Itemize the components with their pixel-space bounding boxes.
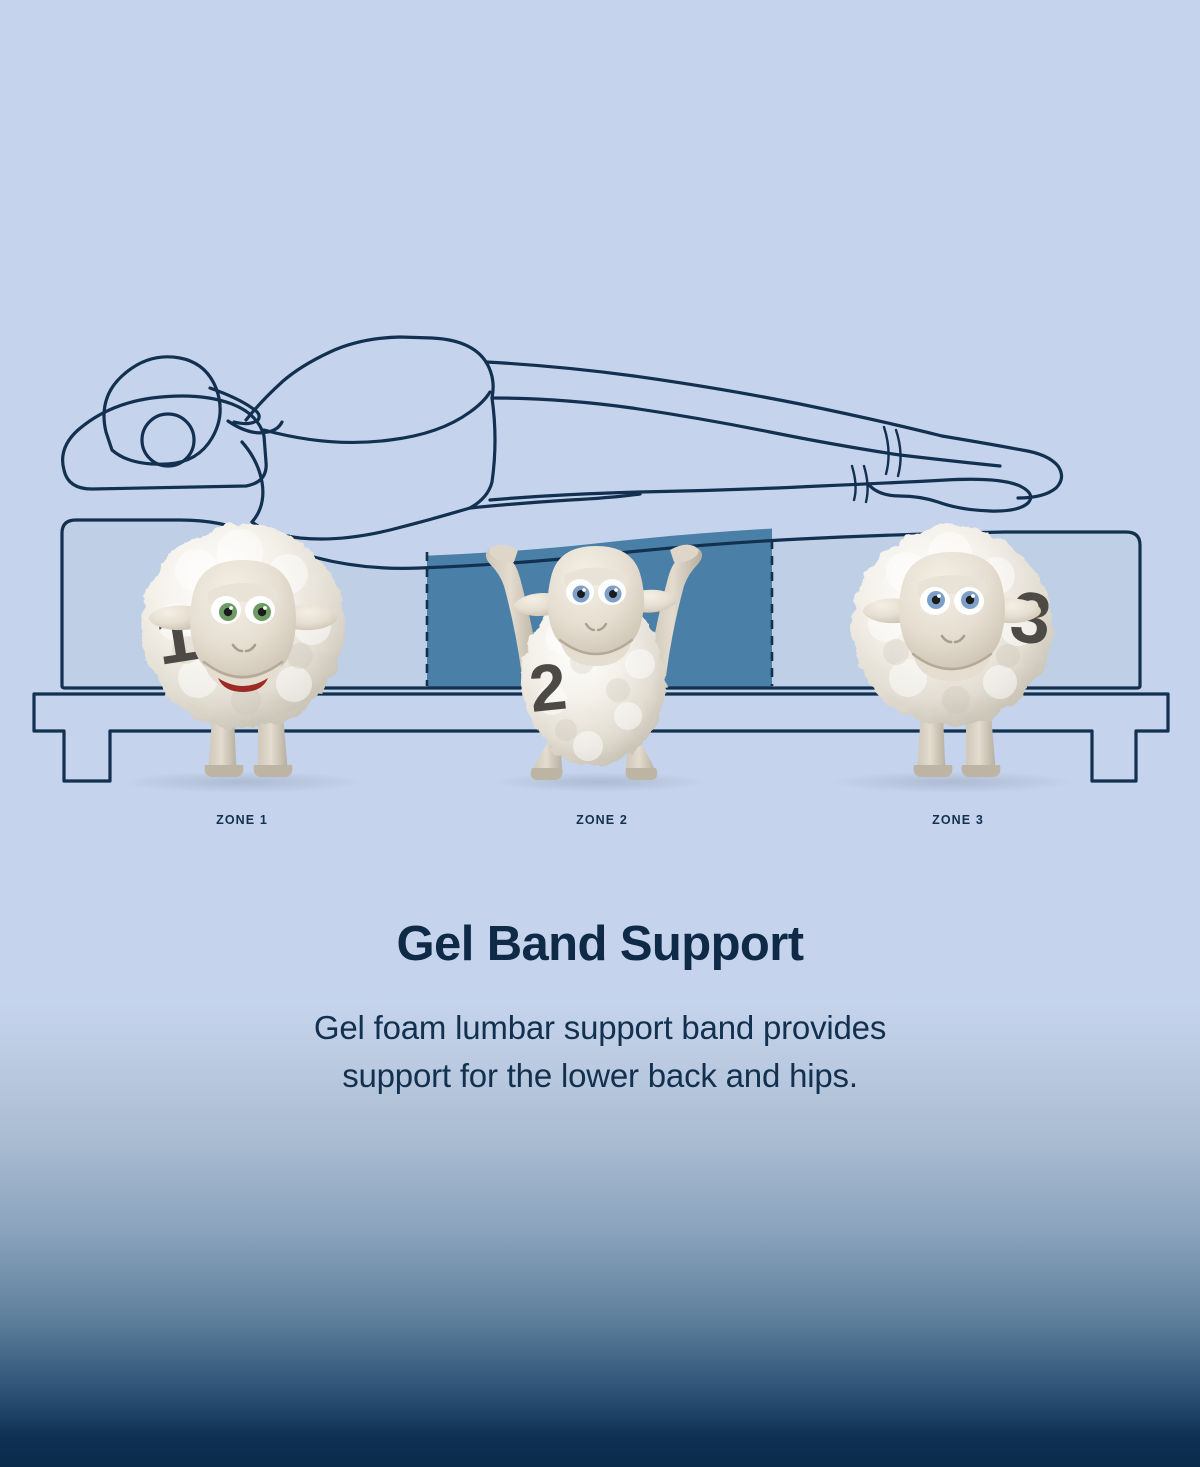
zone-label-2: ZONE 2 bbox=[502, 813, 702, 827]
page-title: Gel Band Support bbox=[0, 915, 1200, 973]
description-line-1: Gel foam lumbar support band provides bbox=[314, 1009, 886, 1046]
zone-label-1: ZONE 1 bbox=[142, 813, 342, 827]
sheep1-shadow bbox=[121, 771, 365, 793]
sheep-number-2: 2 bbox=[526, 648, 570, 725]
sleeper-outline bbox=[63, 337, 1062, 539]
feature-description: Gel foam lumbar support band provides su… bbox=[175, 1004, 1025, 1100]
description-line-2: support for the lower back and hips. bbox=[342, 1057, 858, 1094]
sheep-zone-3: 3 bbox=[852, 526, 1056, 777]
sheep3-shadow bbox=[830, 771, 1074, 793]
mattress-zone-illustration: 1 bbox=[0, 0, 1200, 860]
zone-label-3: ZONE 3 bbox=[858, 813, 1058, 827]
feature-text-block: Gel Band Support Gel foam lumbar support… bbox=[0, 915, 1200, 1100]
sheep-zone-1: 1 bbox=[141, 524, 345, 777]
sheep2-shadow bbox=[492, 772, 708, 792]
feature-panel: 1 bbox=[0, 0, 1200, 1467]
